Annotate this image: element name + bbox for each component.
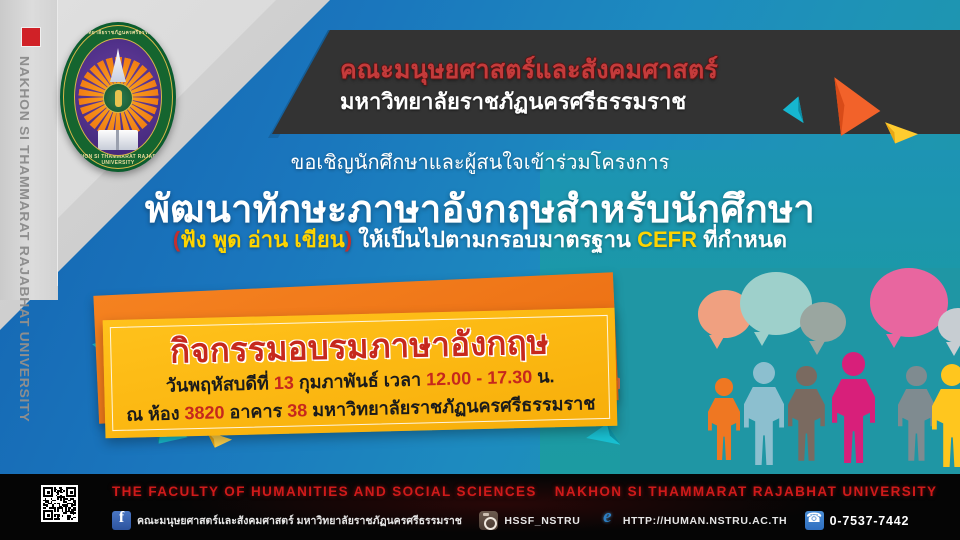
footer-title-left: THE FACULTY OF HUMANITIES AND SOCIAL SCI… <box>112 484 537 499</box>
person-silhouette <box>898 366 935 458</box>
sidebar-red-square <box>21 27 41 47</box>
speech-bubble <box>800 302 846 342</box>
instagram-contact[interactable]: HSSF_NSTRU <box>479 511 580 530</box>
speech-bubble-tail <box>886 334 902 348</box>
speech-bubble-tail <box>754 332 770 346</box>
person-silhouette <box>932 364 960 464</box>
website-contact[interactable]: HTTP://HUMAN.NSTRU.AC.TH <box>598 511 787 530</box>
poster-canvas: NAKHON SI THAMMARAT RAJABHAT UNIVERSITY … <box>0 0 960 540</box>
cefr-close-paren: ) <box>345 227 352 252</box>
phone-label: 0-7537-7442 <box>830 514 910 528</box>
cefr-standard-label: CEFR <box>637 227 697 252</box>
seal-medal-icon <box>103 83 133 113</box>
cyan-triangle-right <box>585 423 620 447</box>
banner-venue-suffix: มหาวิทยาลัยราชภัฏนครศรีธรรมราช <box>307 393 596 420</box>
footer-title-right: NAKHON SI THAMMARAT RAJABHAT UNIVERSITY <box>555 484 938 499</box>
internet-explorer-icon <box>598 511 617 530</box>
footer-contact-row: คณะมนุษยศาสตร์และสังคมศาสตร์ มหาวิทยาลัย… <box>112 511 922 533</box>
instagram-label: HSSF_NSTRU <box>504 515 580 527</box>
phone-icon <box>805 511 824 530</box>
speech-bubble-tail <box>709 335 725 349</box>
banner-date-prefix: วันพฤหัสบดีที่ <box>166 373 274 396</box>
banner-text-group: กิจกรรมอบรมภาษาอังกฤษ วันพฤหัสบดีที่ 13 … <box>103 308 618 438</box>
cefr-line: (ฟัง พูด อ่าน เขียน) ให้เป็นไปตามกรอบมาต… <box>0 222 960 257</box>
person-silhouette <box>788 366 825 458</box>
invitation-subtitle: ขอเชิญนักศึกษาและผู้สนใจเข้าร่วมโครงการ <box>0 146 960 178</box>
banner-room-value: 3820 <box>184 402 225 423</box>
cyan-triangle-header <box>782 95 807 123</box>
seal-inner-disc <box>74 38 162 156</box>
facebook-icon <box>112 511 131 530</box>
phone-contact[interactable]: 0-7537-7442 <box>805 511 910 530</box>
banner-month-text: กุมภาพันธ์ เวลา <box>294 369 427 392</box>
yellow-triangle-header <box>883 122 919 145</box>
banner-building-prefix: อาคาร <box>224 401 287 423</box>
cefr-tail-text: ที่กำหนด <box>697 227 787 252</box>
cefr-skills: ฟัง พูด อ่าน เขียน <box>180 227 345 252</box>
banner-room-prefix: ณ ห้อง <box>126 403 185 424</box>
footer-title: THE FACULTY OF HUMANITIES AND SOCIAL SCI… <box>112 484 937 499</box>
instagram-icon <box>479 511 498 530</box>
cefr-middle-text: ให้เป็นไปตามกรอบมาตรฐาน <box>352 227 637 252</box>
speech-bubble <box>870 268 948 337</box>
people-illustration <box>620 268 960 474</box>
banner-building-value: 38 <box>287 400 308 420</box>
facebook-label: คณะมนุษยศาสตร์และสังคมศาสตร์ มหาวิทยาลัย… <box>137 512 462 529</box>
banner-date-value: 13 <box>274 373 295 393</box>
seal-top-text: มหาวิทยาลัยราชภัฏนครศรีธรรมราช <box>60 29 176 37</box>
facebook-contact[interactable]: คณะมนุษยศาสตร์และสังคมศาสตร์ มหาวิทยาลัย… <box>112 511 462 530</box>
website-label: HTTP://HUMAN.NSTRU.AC.TH <box>623 515 787 527</box>
person-silhouette <box>832 352 875 460</box>
person-silhouette <box>744 362 784 462</box>
person-silhouette <box>708 378 740 458</box>
speech-bubble-tail <box>809 341 825 355</box>
banner-time-suffix: น. <box>532 366 555 387</box>
banner-time-value: 12.00 - 17.30 <box>426 367 533 390</box>
speech-bubble-tail <box>946 342 960 356</box>
qr-code-icon[interactable] <box>41 485 78 522</box>
